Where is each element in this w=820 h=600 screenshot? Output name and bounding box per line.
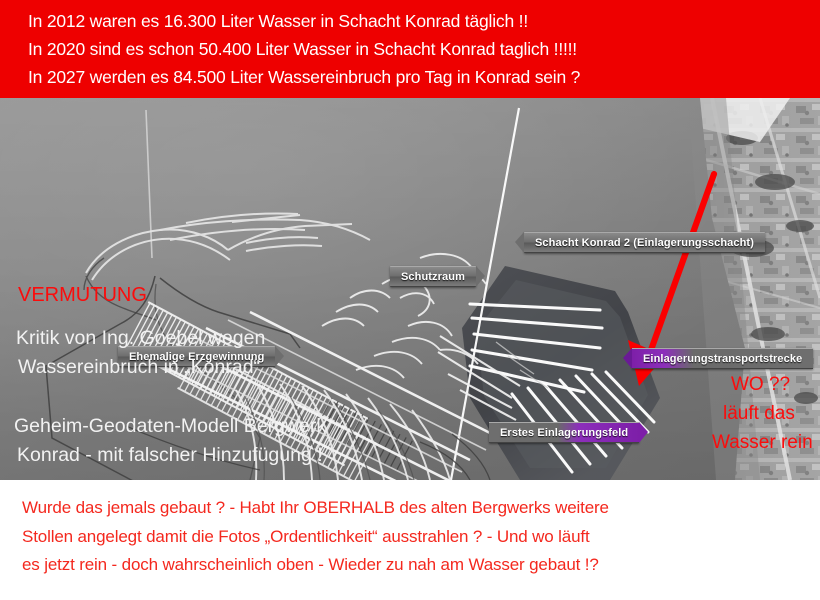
bottom-line-2: Stollen angelegt damit die Fotos „Ordent… [22, 523, 820, 552]
bottom-line-3: es jetzt rein - doch wahrscheinlich oben… [22, 551, 820, 580]
map-label-text: Einlagerungstransportstrecke [643, 353, 802, 365]
bottom-question-block: Wurde das jemals gebaut ? - Habt Ihr OBE… [0, 480, 820, 600]
purple-arrow-left-icon [623, 348, 632, 369]
annotation-wo-line-1: WO ?? [731, 372, 790, 397]
map-label-text: Schacht Konrad 2 (Einlagerungsschacht) [535, 237, 754, 249]
banner-line-2: In 2020 sind es schon 50.400 Liter Wasse… [28, 35, 820, 63]
map-label-einlagerungstransportstrecke[interactable]: Einlagerungstransportstrecke [632, 348, 813, 369]
poster-root: In 2012 waren es 16.300 Liter Wasser in … [0, 0, 820, 600]
label-arrow-right-icon [476, 266, 485, 287]
annotation-kritik-line-1: Kritik von Ing. Goebel wegen [16, 326, 265, 352]
annotation-wo-line-2: läuft das [723, 401, 795, 426]
annotation-geheim-line-1: Geheim-Geodaten-Modell Bergwerk [14, 414, 326, 440]
map-label-schutzraum[interactable]: Schutzraum [390, 266, 476, 287]
annotation-vermutung: VERMUTUNG [18, 282, 147, 308]
map-label-text: Schutzraum [401, 271, 465, 283]
annotation-geheim-line-2: Konrad - mit falscher Hinzufügung ! [17, 443, 323, 469]
label-arrow-left-icon [515, 232, 524, 253]
map-label-text: Erstes Einlagerungsfeld [500, 427, 628, 439]
banner-line-1: In 2012 waren es 16.300 Liter Wasser in … [28, 7, 820, 35]
purple-arrow-right-icon [639, 422, 648, 443]
mine-model-image: Ehemalige Erzgewinnung Schutzraum Schach… [0, 98, 820, 480]
map-label-schacht-konrad-2[interactable]: Schacht Konrad 2 (Einlagerungsschacht) [524, 232, 765, 253]
annotation-kritik-line-2: Wassereinbruch in „Konrad“ [18, 355, 260, 381]
map-label-erstes-einlagerungsfeld[interactable]: Erstes Einlagerungsfeld [489, 422, 639, 443]
annotation-wo-line-3: Wasser rein [712, 430, 813, 455]
top-red-banner: In 2012 waren es 16.300 Liter Wasser in … [0, 0, 820, 98]
label-arrow-right-icon [275, 346, 284, 367]
banner-line-3: In 2027 werden es 84.500 Liter Wasserein… [28, 63, 820, 91]
bottom-line-1: Wurde das jemals gebaut ? - Habt Ihr OBE… [22, 494, 820, 523]
